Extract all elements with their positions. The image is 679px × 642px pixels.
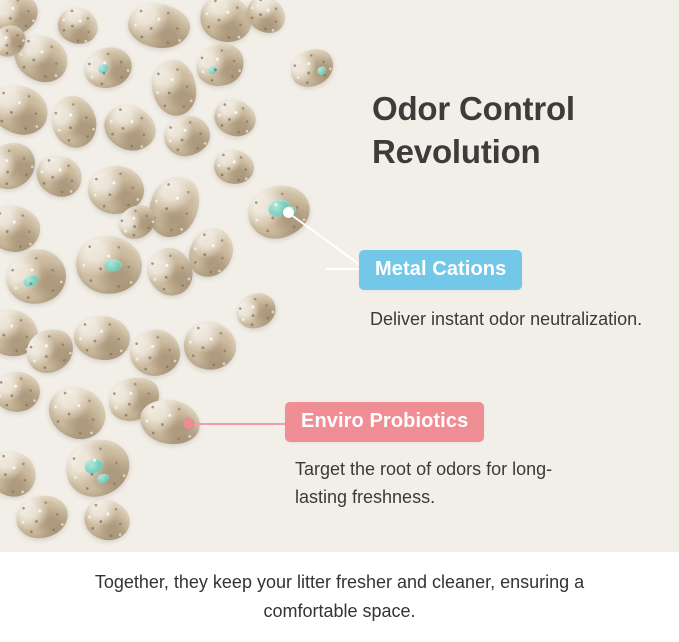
mineral-fleck — [83, 457, 105, 476]
litter-granule — [211, 146, 257, 188]
marker-dot-metal-cations — [283, 207, 294, 218]
litter-granule — [230, 287, 281, 336]
litter-granule — [243, 179, 316, 244]
litter-granule — [44, 90, 103, 154]
page-title: Odor Control Revolution — [372, 88, 672, 174]
leader-line-metal-cations — [289, 213, 367, 270]
litter-granule — [31, 149, 88, 202]
litter-granule — [284, 42, 340, 94]
litter-granule — [0, 444, 43, 505]
litter-granule — [79, 494, 134, 545]
litter-granule — [126, 325, 184, 380]
litter-granule — [73, 314, 132, 362]
mineral-fleck — [316, 65, 328, 76]
mineral-fleck — [97, 62, 111, 75]
litter-granule — [73, 233, 145, 298]
mineral-fleck — [207, 65, 218, 75]
leader-line-enviro-probiotics — [190, 423, 288, 425]
litter-granule — [161, 112, 213, 159]
mineral-fleck — [21, 272, 40, 288]
litter-granule — [78, 40, 138, 96]
litter-granule — [0, 202, 44, 256]
litter-granule — [178, 315, 242, 377]
footer-section: Together, they keep your litter fresher … — [0, 552, 679, 642]
description-enviro-probiotics: Target the root of odors for long-lastin… — [295, 455, 595, 511]
badge-metal-cations[interactable]: Metal Cations — [359, 250, 522, 290]
litter-granule — [125, 0, 193, 52]
litter-granule — [149, 58, 199, 118]
litter-granule — [60, 432, 137, 503]
litter-granule — [0, 370, 42, 415]
litter-granule — [0, 80, 52, 139]
litter-granule — [13, 492, 72, 542]
litter-granule — [191, 38, 249, 92]
mineral-fleck — [103, 259, 122, 273]
litter-granule — [210, 95, 260, 141]
litter-granule — [41, 379, 114, 447]
marker-dot-enviro-probiotics — [183, 418, 194, 429]
litter-granule — [97, 97, 163, 159]
badge-enviro-probiotics[interactable]: Enviro Probiotics — [285, 402, 484, 442]
litter-granule — [240, 0, 292, 40]
description-metal-cations: Deliver instant odor neutralization. — [370, 305, 660, 333]
odor-control-infographic: Metal Cations Deliver instant odor neutr… — [0, 0, 679, 642]
footer-caption: Together, they keep your litter fresher … — [60, 568, 620, 626]
litter-photo-panel: Metal Cations Deliver instant odor neutr… — [0, 0, 679, 552]
mineral-fleck — [96, 472, 110, 484]
